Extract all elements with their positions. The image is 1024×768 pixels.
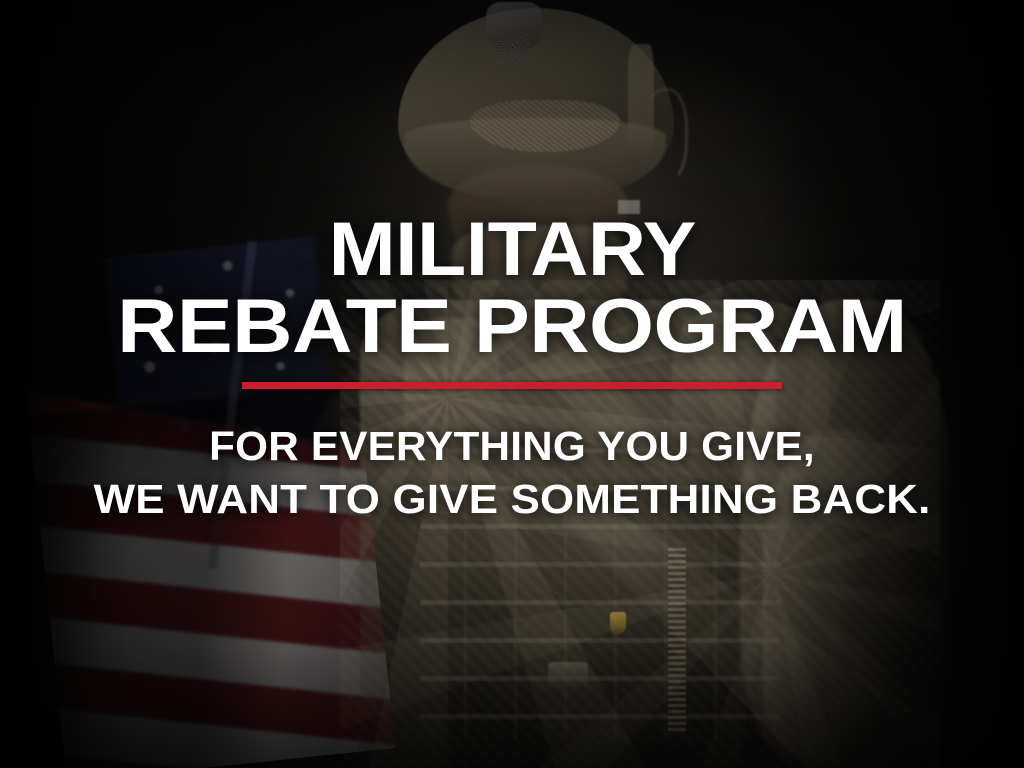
military-rebate-poster: MILITARY REBATE PROGRAM FOR EVERYTHING Y…: [0, 0, 1024, 768]
text-overlay: MILITARY REBATE PROGRAM FOR EVERYTHING Y…: [0, 0, 1024, 768]
red-divider-rule: [242, 382, 782, 389]
headline-line-1: MILITARY: [328, 214, 695, 287]
subhead-line-1: FOR EVERYTHING YOU GIVE,: [209, 423, 815, 470]
subhead-line-2: WE WANT TO GIVE SOMETHING BACK.: [94, 476, 931, 523]
headline-line-2: REBATE PROGRAM: [117, 291, 907, 364]
